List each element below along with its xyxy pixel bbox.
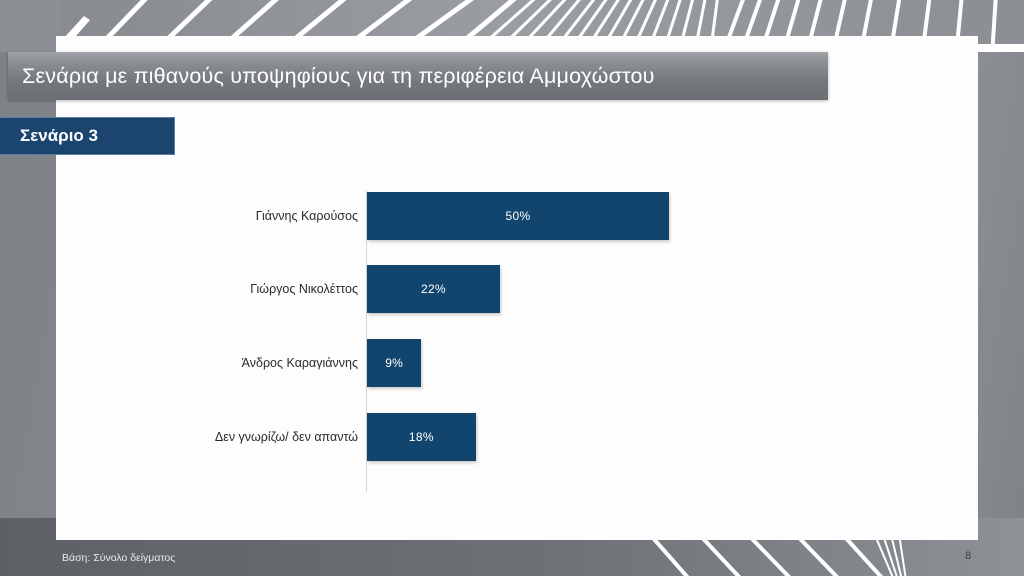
slide: Σενάρια με πιθανούς υποψηφίους για τη πε… <box>0 0 1024 576</box>
bar-row: Γιάννης Καρούσος 50% <box>56 192 978 240</box>
bar-row: Άνδρος Καραγιάννης 9% <box>56 339 978 387</box>
footer-note: Βάση: Σύνολο δείγματος <box>62 552 175 564</box>
scenario-label: Σενάριο 3 <box>0 126 98 146</box>
page-title: Σενάρια με πιθανούς υποψηφίους για τη πε… <box>8 64 655 89</box>
bar-category-label: Γιώργος Νικολέττος <box>166 282 358 296</box>
bar-1: 22% <box>367 265 500 313</box>
slide-title-bar: Σενάρια με πιθανούς υποψηφίους για τη πε… <box>8 52 828 100</box>
bar-value-label: 22% <box>421 282 446 296</box>
bar-chart: Γιάννης Καρούσος 50% Γιώργος Νικολέττος … <box>56 170 978 510</box>
bar-2: 9% <box>367 339 421 387</box>
bar-value-label: 18% <box>409 430 434 444</box>
bar-row: Γιώργος Νικολέττος 22% <box>56 265 978 313</box>
bar-category-label: Άνδρος Καραγιάννης <box>166 356 358 370</box>
scenario-banner: Σενάριο 3 <box>0 117 175 155</box>
bar-value-label: 50% <box>506 209 531 223</box>
page-number: 8 <box>958 550 978 562</box>
bar-0: 50% <box>367 192 669 240</box>
bar-category-label: Γιάννης Καρούσος <box>166 209 358 223</box>
bar-row: Δεν γνωρίζω/ δεν απαντώ 18% <box>56 413 978 461</box>
bar-category-label: Δεν γνωρίζω/ δεν απαντώ <box>166 430 358 444</box>
bar-value-label: 9% <box>385 356 403 370</box>
bar-3: 18% <box>367 413 476 461</box>
